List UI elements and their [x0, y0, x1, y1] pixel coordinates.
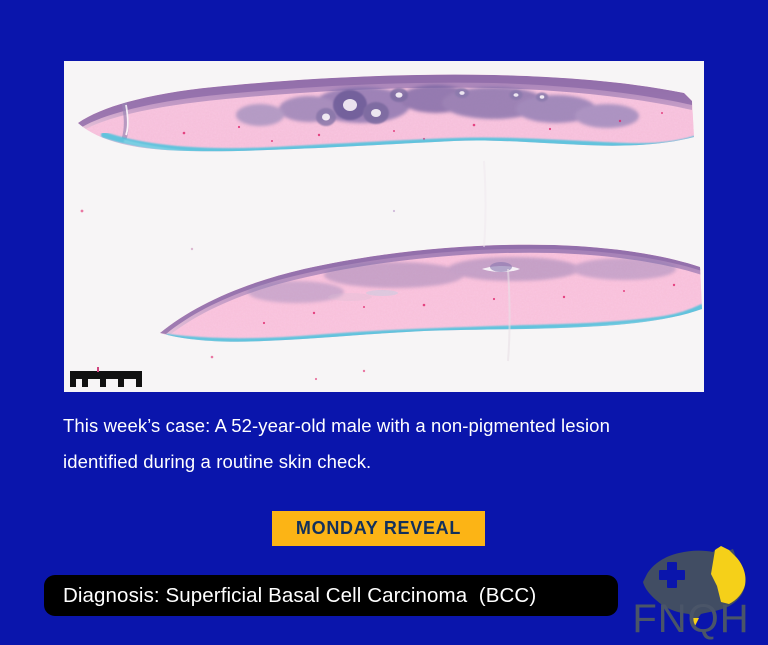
monday-reveal-button[interactable]: MONDAY REVEAL	[272, 511, 485, 546]
fnqh-wordmark: FNQH	[632, 597, 749, 640]
case-caption-line-2: identified during a routine skin check.	[63, 444, 703, 480]
case-caption-line-1: This week’s case: A 52-year-old male wit…	[63, 408, 703, 444]
fnqh-logo: FNQH	[629, 546, 753, 640]
histopathology-slide-image	[64, 61, 704, 392]
diagnosis-text: Diagnosis: Superficial Basal Cell Carcin…	[63, 584, 536, 608]
case-caption: This week’s case: A 52-year-old male wit…	[63, 408, 703, 480]
australia-map-with-medical-cross-icon: FNQH	[629, 546, 753, 640]
histopathology-slide-panel	[64, 61, 704, 392]
diagnosis-banner: Diagnosis: Superficial Basal Cell Carcin…	[44, 575, 618, 616]
